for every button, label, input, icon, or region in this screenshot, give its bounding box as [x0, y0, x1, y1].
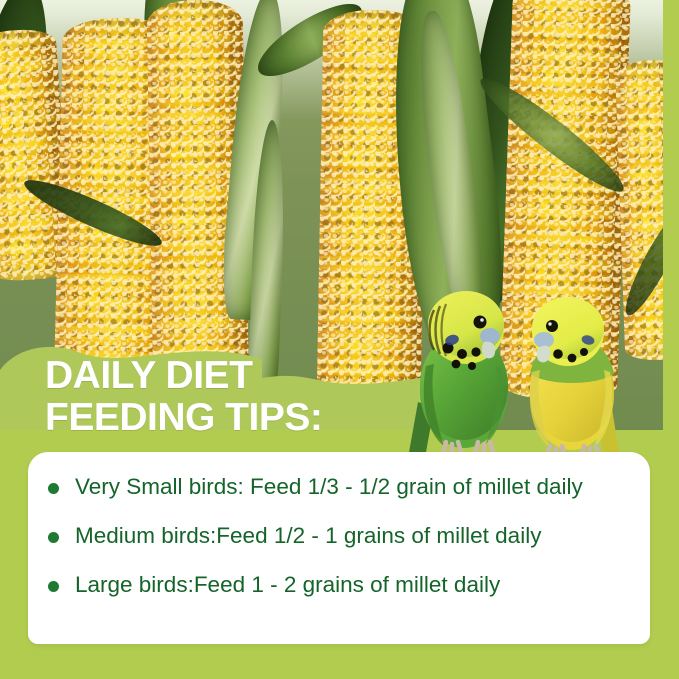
infographic-canvas: DAILY DIET FEEDING TIPS: Very Small bird…: [0, 0, 679, 679]
bullet-icon: [48, 532, 59, 543]
tip-text: Medium birds:Feed 1/2 - 1 grains of mill…: [75, 523, 541, 548]
bullet-icon: [48, 581, 59, 592]
tip-text: Very Small birds: Feed 1/3 - 1/2 grain o…: [75, 474, 583, 499]
tip-text: Large birds:Feed 1 - 2 grains of millet …: [75, 572, 500, 597]
list-item: Large birds:Feed 1 - 2 grains of millet …: [48, 572, 638, 598]
budgie-yellow-right: [516, 288, 628, 466]
list-item: Medium birds:Feed 1/2 - 1 grains of mill…: [48, 523, 638, 549]
feeding-tips-card: Very Small birds: Feed 1/3 - 1/2 grain o…: [28, 452, 650, 644]
page-title: DAILY DIET FEEDING TIPS:: [45, 355, 425, 439]
bullet-icon: [48, 483, 59, 494]
feeding-tips-list: Very Small birds: Feed 1/3 - 1/2 grain o…: [48, 474, 638, 598]
list-item: Very Small birds: Feed 1/3 - 1/2 grain o…: [48, 474, 638, 500]
